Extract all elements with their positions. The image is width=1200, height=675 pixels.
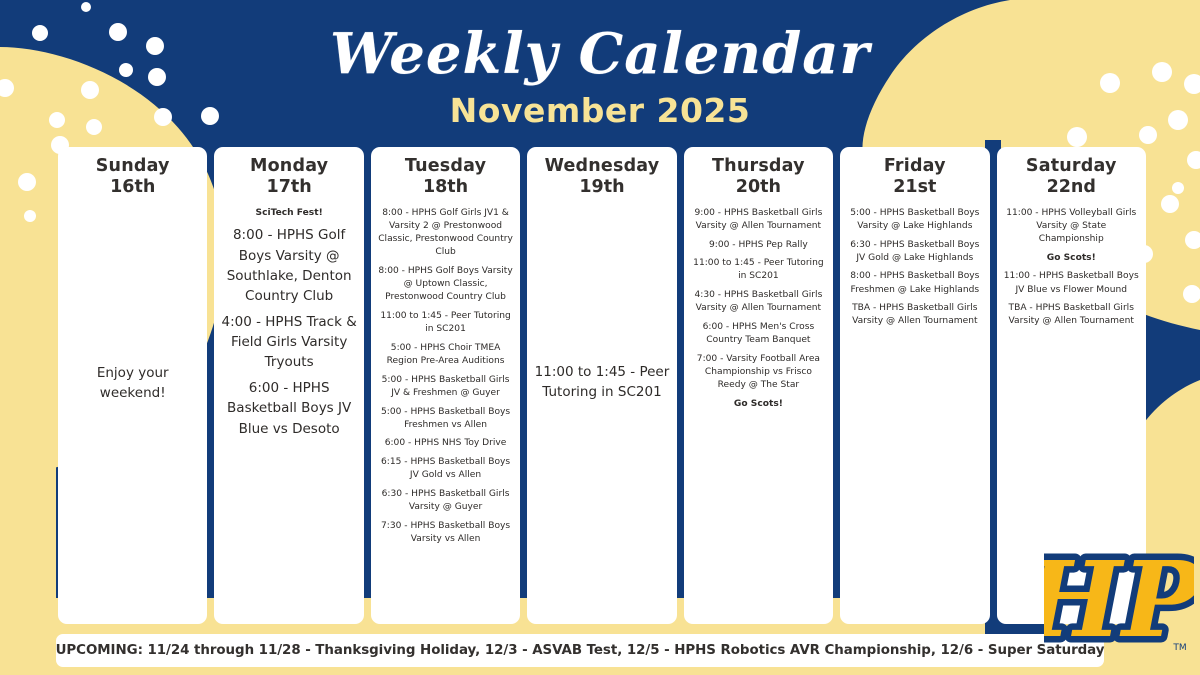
- event-item: SciTech Fest!: [221, 207, 356, 220]
- day-column-wednesday[interactable]: Wednesday19th11:00 to 1:45 - Peer Tutori…: [527, 147, 676, 624]
- event-item: 9:00 - HPHS Basketball Girls Varsity @ A…: [691, 207, 826, 233]
- upcoming-banner: UPCOMING: 11/24 through 11/28 - Thanksgi…: [56, 634, 1104, 667]
- event-list: SciTech Fest!8:00 - HPHS Golf Boys Varsi…: [221, 201, 356, 439]
- day-number: 20th: [736, 177, 781, 198]
- day-number: 17th: [267, 177, 312, 198]
- day-name: Thursday: [712, 156, 805, 177]
- hp-monogram-logo: HP HP TM: [1044, 528, 1194, 673]
- event-item: 8:00 - HPHS Golf Boys Varsity @ Uptown C…: [378, 265, 513, 305]
- event-list: 8:00 - HPHS Golf Girls JV1 & Varsity 2 @…: [378, 201, 513, 546]
- svg-text:HP: HP: [1044, 538, 1194, 661]
- event-item: 8:00 - HPHS Basketball Boys Freshmen @ L…: [847, 270, 982, 296]
- event-item: TBA - HPHS Basketball Girls Varsity @ Al…: [847, 302, 982, 328]
- event-item: 11:00 - HPHS Basketball Boys JV Blue vs …: [1004, 270, 1139, 296]
- event-item: 7:00 - Varsity Football Area Championshi…: [691, 353, 826, 393]
- day-name: Friday: [884, 156, 946, 177]
- event-item: 6:30 - HPHS Basketball Boys JV Gold @ La…: [847, 239, 982, 265]
- day-number: 21st: [893, 177, 936, 198]
- calendar-grid: Sunday16thEnjoy your weekend!Monday17thS…: [58, 147, 1146, 624]
- event-item: 4:30 - HPHS Basketball Girls Varsity @ A…: [691, 289, 826, 315]
- upcoming-banner-text: UPCOMING: 11/24 through 11/28 - Thanksgi…: [56, 643, 1105, 658]
- event-item: 11:00 to 1:45 - Peer Tutoring in SC201: [378, 310, 513, 336]
- event-item: Enjoy your weekend!: [65, 363, 200, 404]
- event-item: 11:00 - HPHS Volleyball Girls Varsity @ …: [1004, 207, 1139, 247]
- day-column-tuesday[interactable]: Tuesday18th8:00 - HPHS Golf Girls JV1 & …: [371, 147, 520, 624]
- event-list: 11:00 to 1:45 - Peer Tutoring in SC201: [534, 201, 669, 616]
- day-name: Saturday: [1026, 156, 1117, 177]
- day-number: 19th: [579, 177, 624, 198]
- event-item: 6:00 - HPHS NHS Toy Drive: [378, 437, 513, 450]
- event-item: 8:00 - HPHS Golf Girls JV1 & Varsity 2 @…: [378, 207, 513, 260]
- event-item: Go Scots!: [1004, 252, 1139, 265]
- day-name: Wednesday: [545, 156, 660, 177]
- event-item: 6:15 - HPHS Basketball Boys JV Gold vs A…: [378, 456, 513, 482]
- event-item: 6:00 - HPHS Basketball Boys JV Blue vs D…: [221, 378, 356, 439]
- day-number: 16th: [110, 177, 155, 198]
- event-item: 7:30 - HPHS Basketball Boys Varsity vs A…: [378, 520, 513, 546]
- day-column-sunday[interactable]: Sunday16thEnjoy your weekend!: [58, 147, 207, 624]
- day-name: Monday: [250, 156, 328, 177]
- day-number: 22nd: [1047, 177, 1096, 198]
- event-item: 6:30 - HPHS Basketball Girls Varsity @ G…: [378, 488, 513, 514]
- event-list: 5:00 - HPHS Basketball Boys Varsity @ La…: [847, 201, 982, 328]
- day-column-thursday[interactable]: Thursday20th9:00 - HPHS Basketball Girls…: [684, 147, 833, 624]
- event-item: Go Scots!: [691, 398, 826, 411]
- event-item: 11:00 to 1:45 - Peer Tutoring in SC201: [691, 257, 826, 283]
- event-item: 5:00 - HPHS Basketball Girls JV & Freshm…: [378, 374, 513, 400]
- event-item: 4:00 - HPHS Track & Field Girls Varsity …: [221, 312, 356, 373]
- event-list: 11:00 - HPHS Volleyball Girls Varsity @ …: [1004, 201, 1139, 328]
- event-list: 9:00 - HPHS Basketball Girls Varsity @ A…: [691, 201, 826, 411]
- event-item: 5:00 - HPHS Basketball Boys Freshmen vs …: [378, 406, 513, 432]
- event-item: 9:00 - HPHS Pep Rally: [691, 239, 826, 252]
- day-number: 18th: [423, 177, 468, 198]
- event-item: 5:00 - HPHS Choir TMEA Region Pre-Area A…: [378, 342, 513, 368]
- event-item: 8:00 - HPHS Golf Boys Varsity @ Southlak…: [221, 225, 356, 306]
- day-name: Sunday: [96, 156, 170, 177]
- event-item: 6:00 - HPHS Men's Cross Country Team Ban…: [691, 321, 826, 347]
- event-item: 11:00 to 1:45 - Peer Tutoring in SC201: [534, 362, 669, 403]
- day-column-monday[interactable]: Monday17thSciTech Fest!8:00 - HPHS Golf …: [214, 147, 363, 624]
- event-item: TBA - HPHS Basketball Girls Varsity @ Al…: [1004, 302, 1139, 328]
- day-name: Tuesday: [405, 156, 486, 177]
- event-list: Enjoy your weekend!: [65, 201, 200, 616]
- event-item: 5:00 - HPHS Basketball Boys Varsity @ La…: [847, 207, 982, 233]
- day-column-friday[interactable]: Friday21st5:00 - HPHS Basketball Boys Va…: [840, 147, 989, 624]
- trademark-mark: TM: [1172, 643, 1186, 653]
